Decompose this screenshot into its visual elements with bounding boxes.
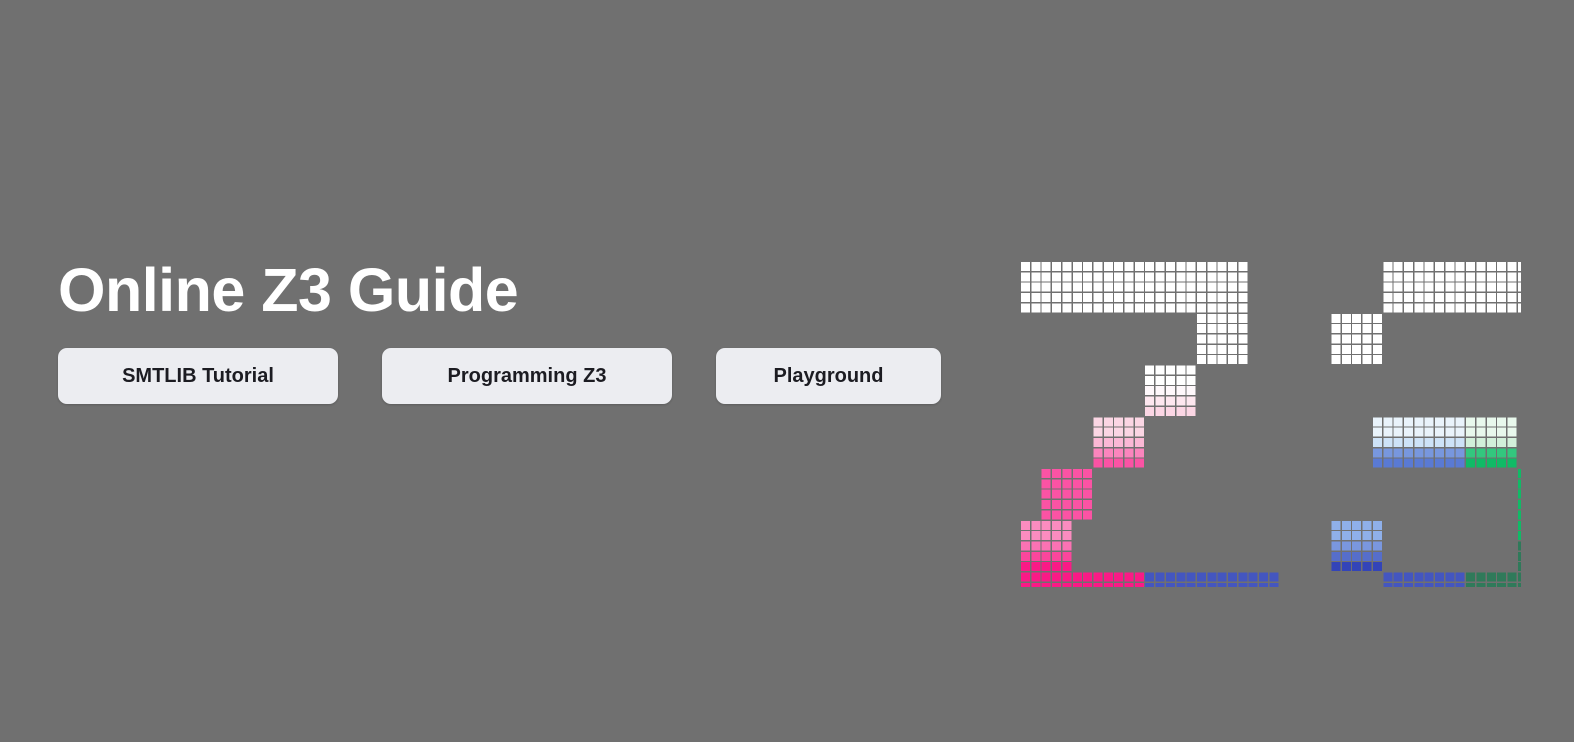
smtlib-tutorial-button[interactable]: SMTLIB Tutorial xyxy=(58,348,338,404)
hero-text-block: Online Z3 Guide SMTLIB Tutorial Programm… xyxy=(58,258,958,404)
playground-button[interactable]: Playground xyxy=(716,348,941,404)
nav-button-group: SMTLIB Tutorial Programming Z3 Playgroun… xyxy=(58,348,958,404)
z3-pixel-logo xyxy=(1021,262,1521,582)
page-title: Online Z3 Guide xyxy=(58,258,958,322)
programming-z3-button[interactable]: Programming Z3 xyxy=(382,348,672,404)
hero-section: Online Z3 Guide SMTLIB Tutorial Programm… xyxy=(0,0,1574,742)
z3-logo-svg xyxy=(1021,262,1521,587)
